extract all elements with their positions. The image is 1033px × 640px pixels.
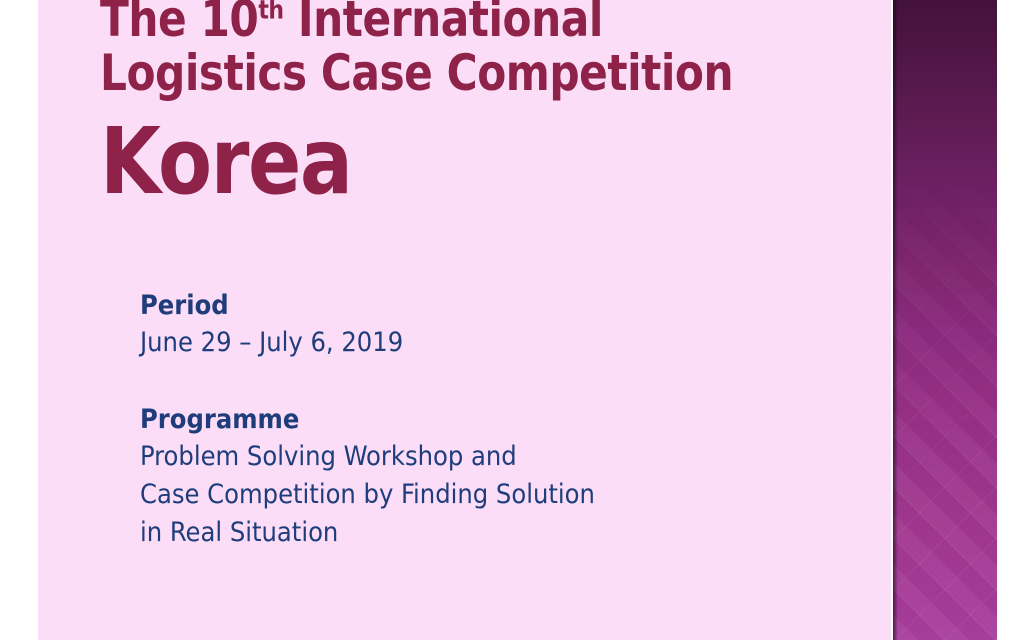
period-heading: Period [140,288,840,324]
programme-line-2: Case Competition by Finding Solution [140,476,840,514]
title-line-1-prefix: The 10 [100,0,258,48]
programme-line-1: Problem Solving Workshop and [140,438,840,476]
title-line-1: The 10th International [100,0,814,46]
title-line-1-suffix: International [284,0,603,48]
title-ordinal-suffix: th [258,0,283,25]
programme-heading: Programme [140,402,840,438]
decorative-gradient-bar [893,0,997,640]
period-value: June 29 – July 6, 2019 [140,324,840,362]
diamond-pattern-overlay [893,0,997,640]
bar-inner-shadow-edge [893,0,898,640]
title-block: The 10th International Logistics Case Co… [100,0,860,214]
info-spacer [140,362,840,402]
title-line-2: Logistics Case Competition [100,46,814,100]
programme-line-3: in Real Situation [140,514,840,552]
info-block: Period June 29 – July 6, 2019 Programme … [140,288,840,552]
title-country: Korea [100,110,822,214]
slide-canvas: The 10th International Logistics Case Co… [0,0,1033,640]
